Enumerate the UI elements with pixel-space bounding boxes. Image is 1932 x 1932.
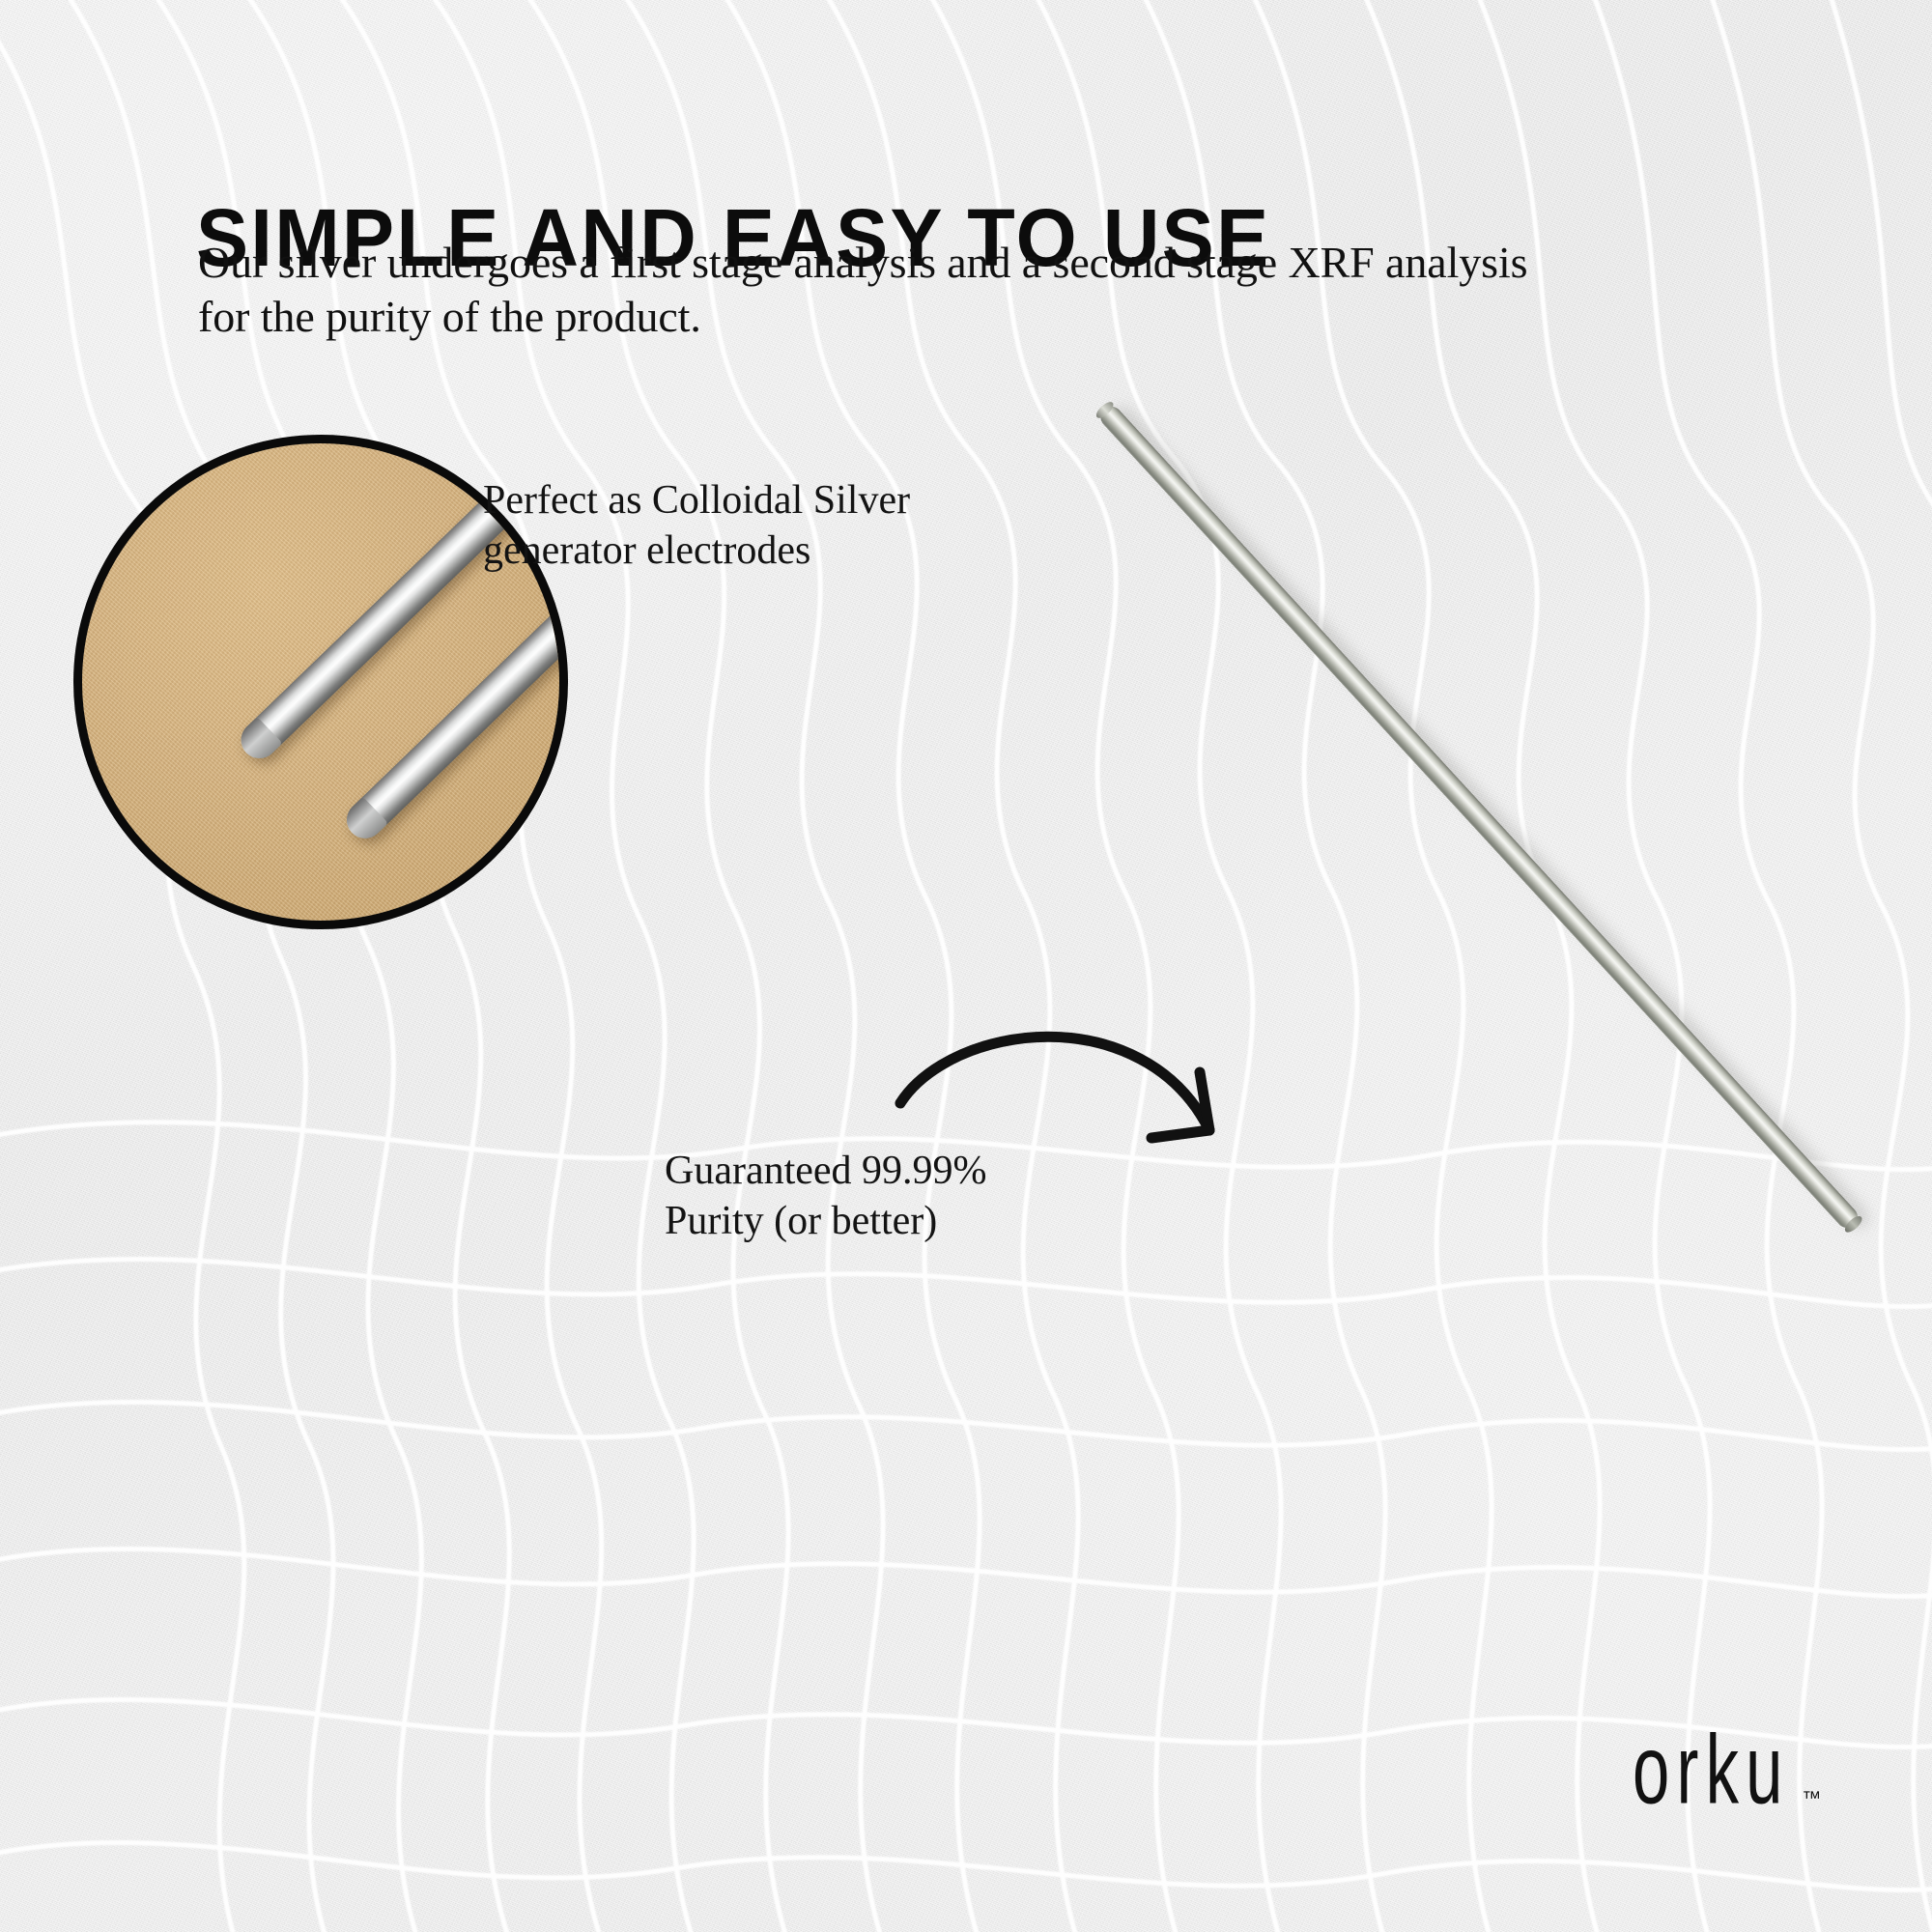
- intro-line-1: Our silver undergoes a first stage analy…: [198, 236, 1628, 290]
- callout-electrodes-line-2: generator electrodes: [483, 526, 910, 576]
- intro-paragraph: Our silver undergoes a first stage analy…: [198, 236, 1628, 344]
- callout-electrodes: Perfect as Colloidal Silver generator el…: [483, 475, 910, 576]
- callout-purity-line-1: Guaranteed 99.99%: [665, 1146, 987, 1196]
- intro-line-2: for the purity of the product.: [198, 290, 1628, 344]
- brand-wordmark: orku: [1633, 1724, 1790, 1817]
- brand-logo: orku ™: [1633, 1739, 1821, 1818]
- callout-purity: Guaranteed 99.99% Purity (or better): [665, 1146, 987, 1246]
- callout-purity-line-2: Purity (or better): [665, 1196, 987, 1246]
- trademark-symbol: ™: [1802, 1788, 1821, 1810]
- callout-electrodes-line-1: Perfect as Colloidal Silver: [483, 475, 910, 526]
- infographic-canvas: SIMPLE AND EASY TO USE Our silver underg…: [0, 0, 1932, 1932]
